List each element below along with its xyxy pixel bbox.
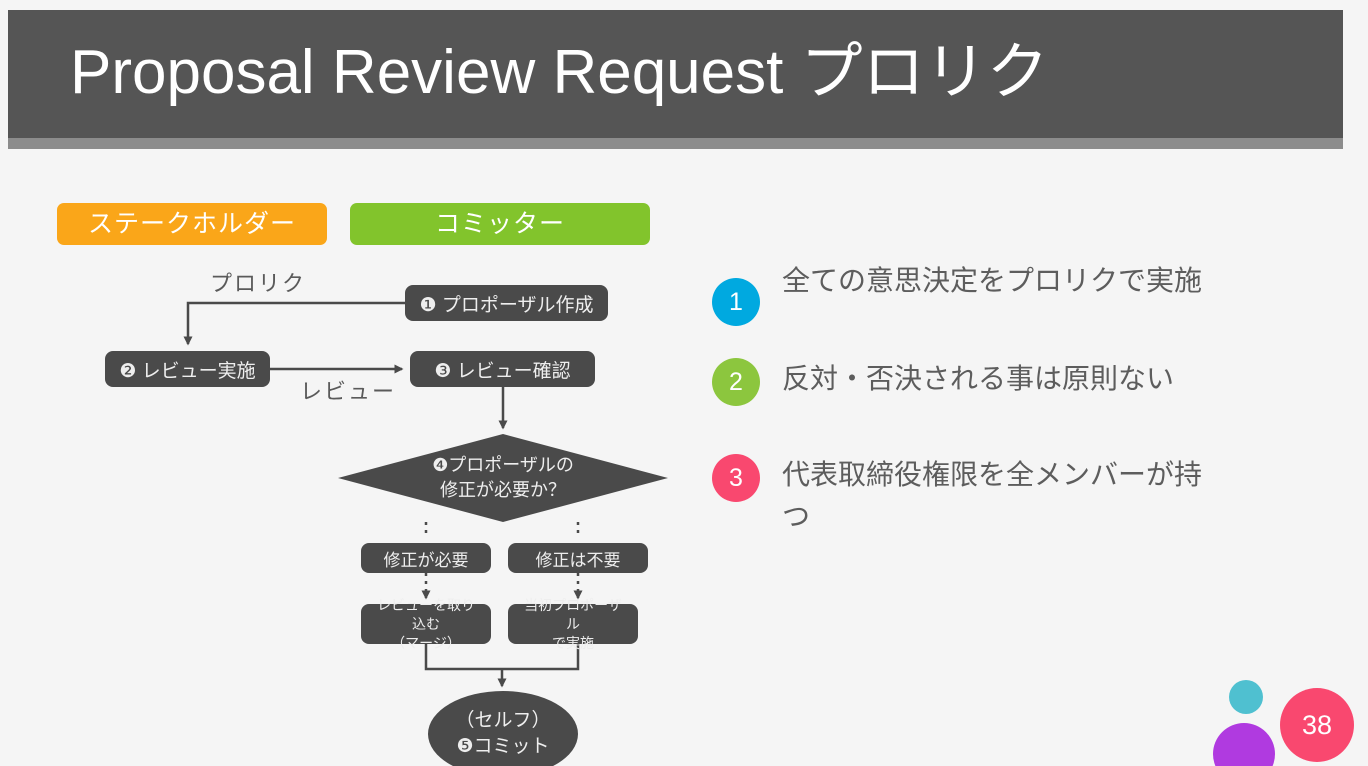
lane-header-committer: コミッター [350, 203, 650, 245]
flow-node-original-proposal: 当初プロポーザル で実施 [508, 604, 638, 644]
lane-header-stakeholder: ステークホルダー [57, 203, 327, 245]
bullet-badge-1: 1 [712, 278, 760, 326]
page-number-badge: 38 [1280, 688, 1354, 762]
diamond-label: ❹プロポーザルの 修正が必要か？ [338, 434, 668, 522]
flow-node-self-commit: （セルフ） ❺コミット [428, 691, 578, 766]
bullet-badge-2: 2 [712, 358, 760, 406]
decoration-circle-teal [1229, 680, 1263, 714]
flow-node-create-proposal: ❶ プロポーザル作成 [405, 285, 608, 321]
original-label-line1: 当初プロポーザル [524, 597, 622, 632]
commit-label-line2: ❺コミット [456, 734, 549, 760]
bullet-text-3: 代表取締役権限を全メンバーが持つ [782, 454, 1222, 538]
flow-node-fix-required: 修正が必要 [361, 543, 491, 573]
list-item: 1 全ての意思決定をプロリクで実施 [712, 260, 1202, 326]
flow-node-do-review: ❷ レビュー実施 [105, 351, 270, 387]
bullet-text-2: 反対・否決される事は原則ない [782, 358, 1174, 400]
edge-label-review: レビュー [300, 374, 396, 406]
flow-node-merge-review: レビューを取り込む （マージ） [361, 604, 491, 644]
bullet-text-1: 全ての意思決定をプロリクで実施 [782, 260, 1202, 302]
title-banner-underline [8, 138, 1343, 149]
list-item: 2 反対・否決される事は原則ない [712, 358, 1174, 406]
diamond-label-line2: 修正が必要か？ [440, 478, 566, 503]
slide-canvas: Proposal Review Request プロリク ステークホルダー コミ… [0, 0, 1368, 766]
original-label-line2: で実施 [552, 635, 594, 651]
flow-node-check-review: ❸ レビュー確認 [410, 351, 595, 387]
flow-node-fix-not-required: 修正は不要 [508, 543, 648, 573]
decoration-circle-purple [1213, 723, 1275, 766]
page-title: Proposal Review Request プロリク [70, 34, 1049, 112]
list-item: 3 代表取締役権限を全メンバーが持つ [712, 454, 1222, 538]
commit-label-line1: （セルフ） [455, 708, 550, 734]
merge-label-line2: （マージ） [391, 635, 461, 651]
edge-label-proposal-request: プロリク [210, 266, 306, 298]
flow-node-decision-need-fix: ❹プロポーザルの 修正が必要か？ [338, 434, 668, 522]
bullet-badge-3: 3 [712, 454, 760, 502]
merge-label-line1: レビューを取り込む [377, 597, 475, 632]
diamond-label-line1: ❹プロポーザルの [432, 453, 574, 478]
